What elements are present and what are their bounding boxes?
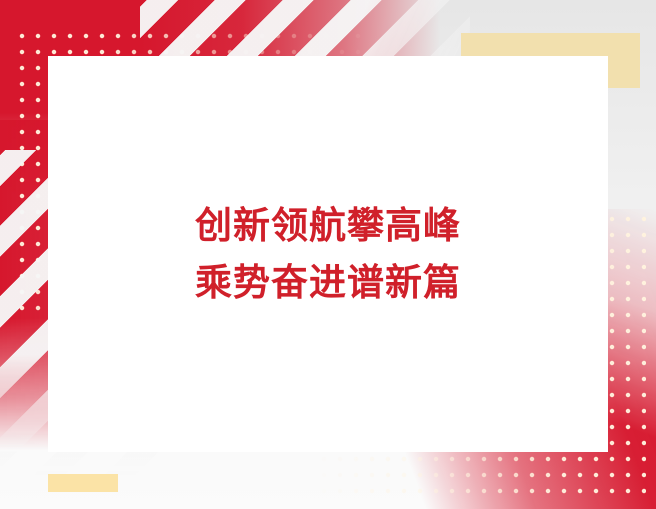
content-card	[48, 56, 608, 452]
title-slide: 创新领航攀高峰 乘势奋进谱新篇	[0, 0, 656, 509]
gold-accent-bar	[48, 474, 118, 492]
